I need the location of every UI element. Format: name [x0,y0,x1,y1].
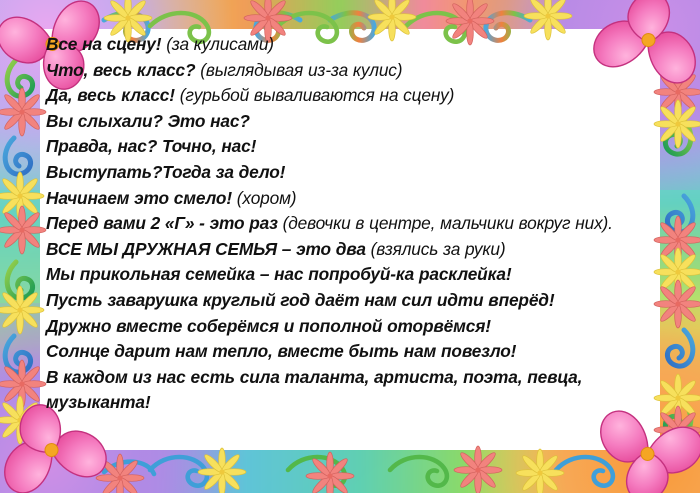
script-line-main: Перед вами 2 «Г» - это раз [46,213,278,233]
script-line-main: Солнце дарит нам тепло, вместе быть нам … [46,341,516,361]
script-line-main: Начинаем это смело! [46,188,232,208]
stage-direction: (за кулисами) [161,34,274,54]
script-line: Дружно вместе соберёмся и пополной оторв… [46,314,664,340]
script-line: Правда, нас? Точно, нас! [46,134,664,160]
script-line: Что, весь класс? (выглядывая из-за кулис… [46,58,664,84]
stage-direction: (взялись за руки) [366,239,506,259]
script-line: Вы слыхали? Это нас? [46,109,664,135]
script-line-main: Все на сцену! [46,34,161,54]
script-line: Да, весь класс! (гурьбой вываливаются на… [46,83,664,109]
script-line-main: Да, весь класс! [46,85,175,105]
scenario-text-block: Все на сцену! (за кулисами) Что, весь кл… [46,32,664,416]
script-line: Все на сцену! (за кулисами) [46,32,664,58]
script-line-main: Выступать?Тогда за дело! [46,162,285,182]
script-line-main: Дружно вместе соберёмся и пополной оторв… [46,316,491,336]
script-line: ВСЕ МЫ ДРУЖНАЯ СЕМЬЯ – это два (взялись … [46,237,664,263]
script-line: Солнце дарит нам тепло, вместе быть нам … [46,339,664,365]
stage-direction: (хором) [232,188,296,208]
script-line: Мы прикольная семейка – нас попробуй-ка … [46,262,664,288]
script-line: Перед вами 2 «Г» - это раз (девочки в це… [46,211,664,237]
script-line-main: Что, весь класс? [46,60,195,80]
stage-direction: (девочки в центре, мальчики вокруг них). [278,213,613,233]
script-line: В каждом из нас есть сила таланта, артис… [46,365,664,416]
script-line-main: Вы слыхали? Это нас? [46,111,250,131]
script-line: Пусть заварушка круглый год даёт нам сил… [46,288,664,314]
script-line: Выступать?Тогда за дело! [46,160,664,186]
script-line: Начинаем это смело! (хором) [46,186,664,212]
poster-canvas: Все на сцену! (за кулисами) Что, весь кл… [0,0,700,493]
stage-direction: (выглядывая из-за кулис) [195,60,402,80]
script-line-main: Мы прикольная семейка – нас попробуй-ка … [46,264,511,284]
script-line-main: В каждом из нас есть сила таланта, артис… [46,367,582,413]
script-line-main: Пусть заварушка круглый год даёт нам сил… [46,290,554,310]
stage-direction: (гурьбой вываливаются на сцену) [175,85,454,105]
script-line-main: ВСЕ МЫ ДРУЖНАЯ СЕМЬЯ – это два [46,239,366,259]
script-line-main: Правда, нас? Точно, нас! [46,136,256,156]
